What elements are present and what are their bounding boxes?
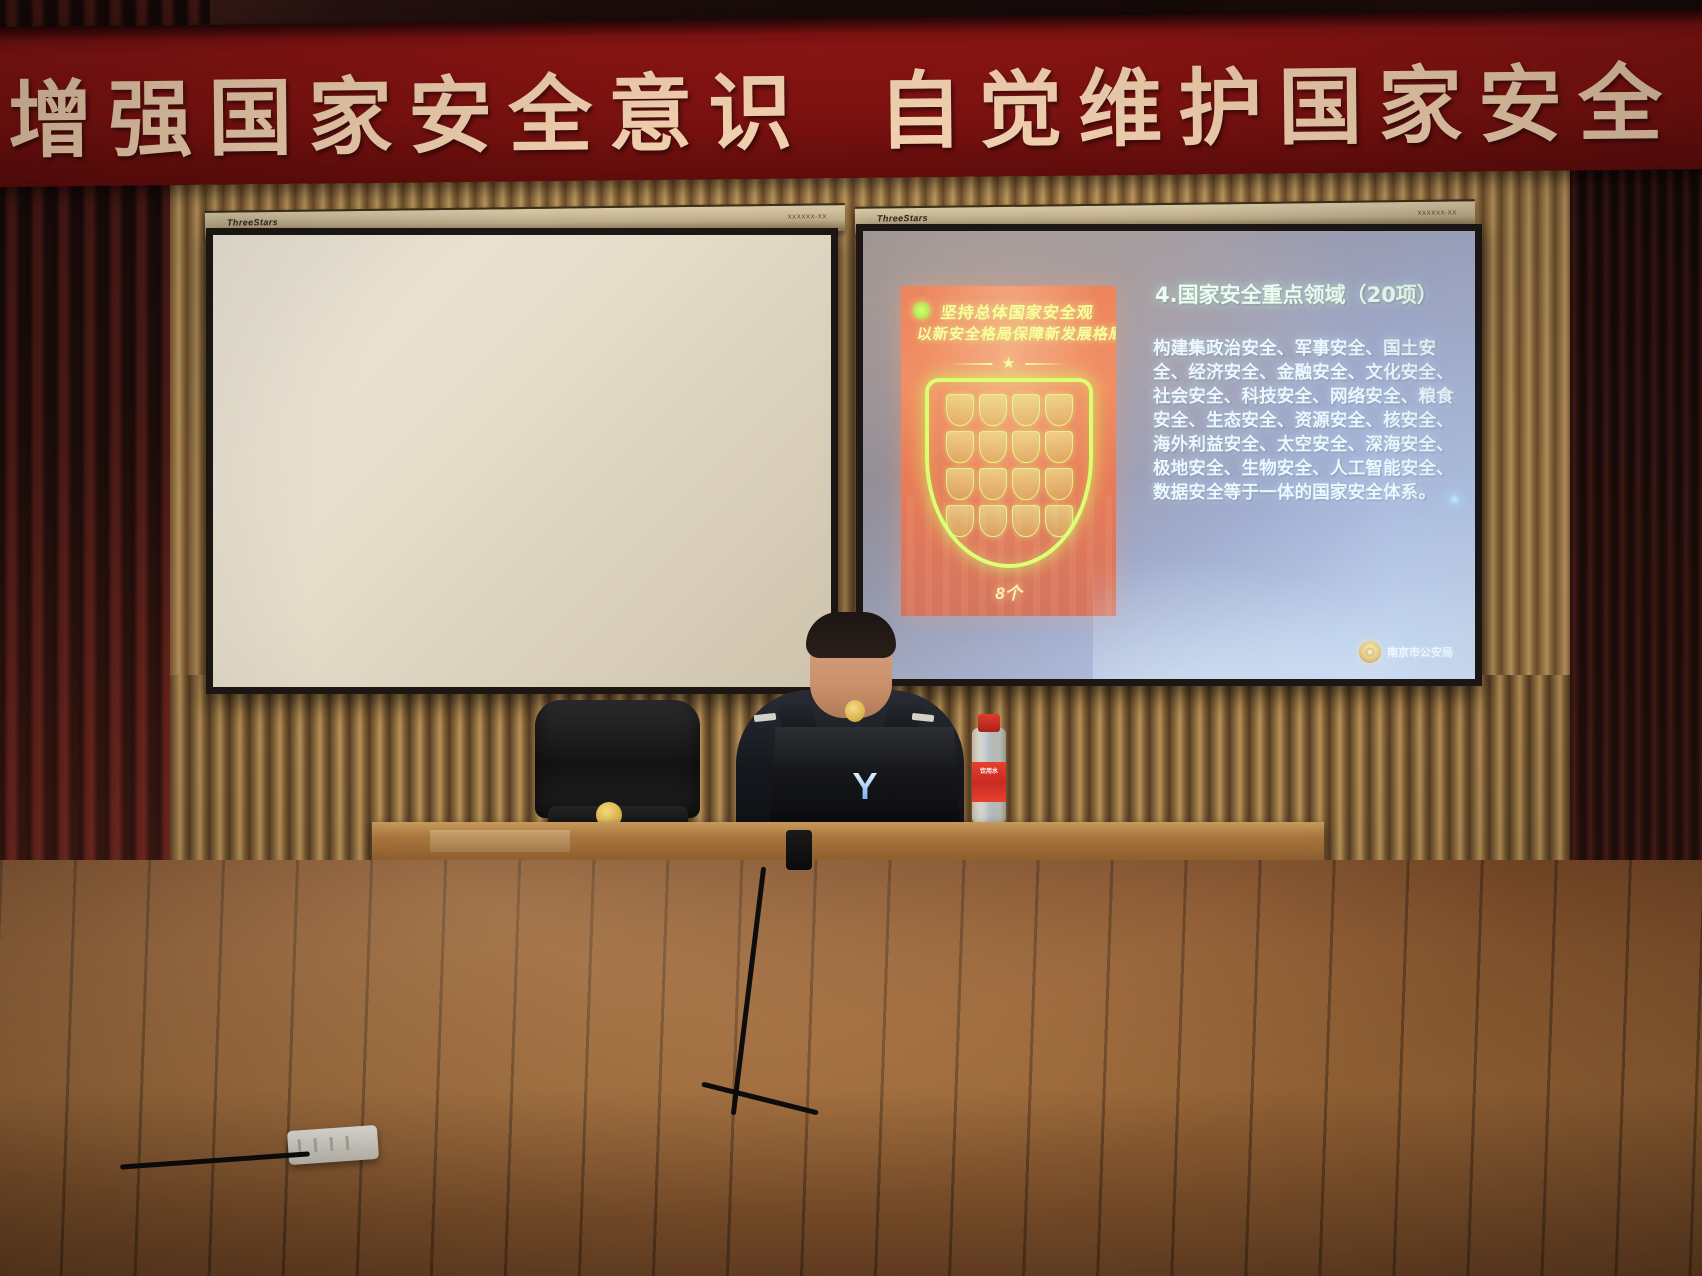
water-bottle-label-line1: 饮用水 xyxy=(972,768,1006,776)
screen-code-label-left: XXXXXX-XX xyxy=(788,214,827,220)
microphone-icon xyxy=(845,700,865,722)
laptop-lid xyxy=(770,727,960,824)
red-banner: 增强国家安全意识自觉维护国家安全 xyxy=(0,9,1702,187)
screen-brand-label-right: ThreeStars xyxy=(877,213,928,224)
slide-light-wash xyxy=(863,231,1475,679)
power-strip xyxy=(287,1125,379,1165)
laptop-logo-icon xyxy=(853,773,877,799)
water-bottle-cap xyxy=(978,714,1000,732)
projection-screen-right: 坚持总体国家安全观 以新安全格局保障新发展格局 ★ xyxy=(856,224,1482,686)
screen-code-label-right: XXXXXX-XX xyxy=(1418,210,1457,216)
banner-text-part1: 增强国家安全意识 xyxy=(8,63,809,169)
cable-connector-block xyxy=(786,830,812,870)
auditorium-photo: 增强国家安全意识自觉维护国家安全 ThreeStars XXXXXX-XX Th… xyxy=(0,0,1702,1276)
banner-text-part2: 自觉维护国家安全 xyxy=(878,54,1679,160)
projection-screen-left xyxy=(206,228,838,694)
office-chair-back xyxy=(535,700,700,818)
presentation-slide: 坚持总体国家安全观 以新安全格局保障新发展格局 ★ xyxy=(863,231,1475,679)
screen-brand-label-left: ThreeStars xyxy=(227,217,278,228)
banner-text-gap xyxy=(808,140,878,141)
water-bottle-label: 饮用水 xyxy=(972,762,1006,802)
desk-surface-highlight xyxy=(430,830,570,852)
floor-reflection xyxy=(0,860,1702,1276)
banner-text: 增强国家安全意识自觉维护国家安全 xyxy=(0,36,1679,175)
presenter-hair xyxy=(806,612,896,658)
